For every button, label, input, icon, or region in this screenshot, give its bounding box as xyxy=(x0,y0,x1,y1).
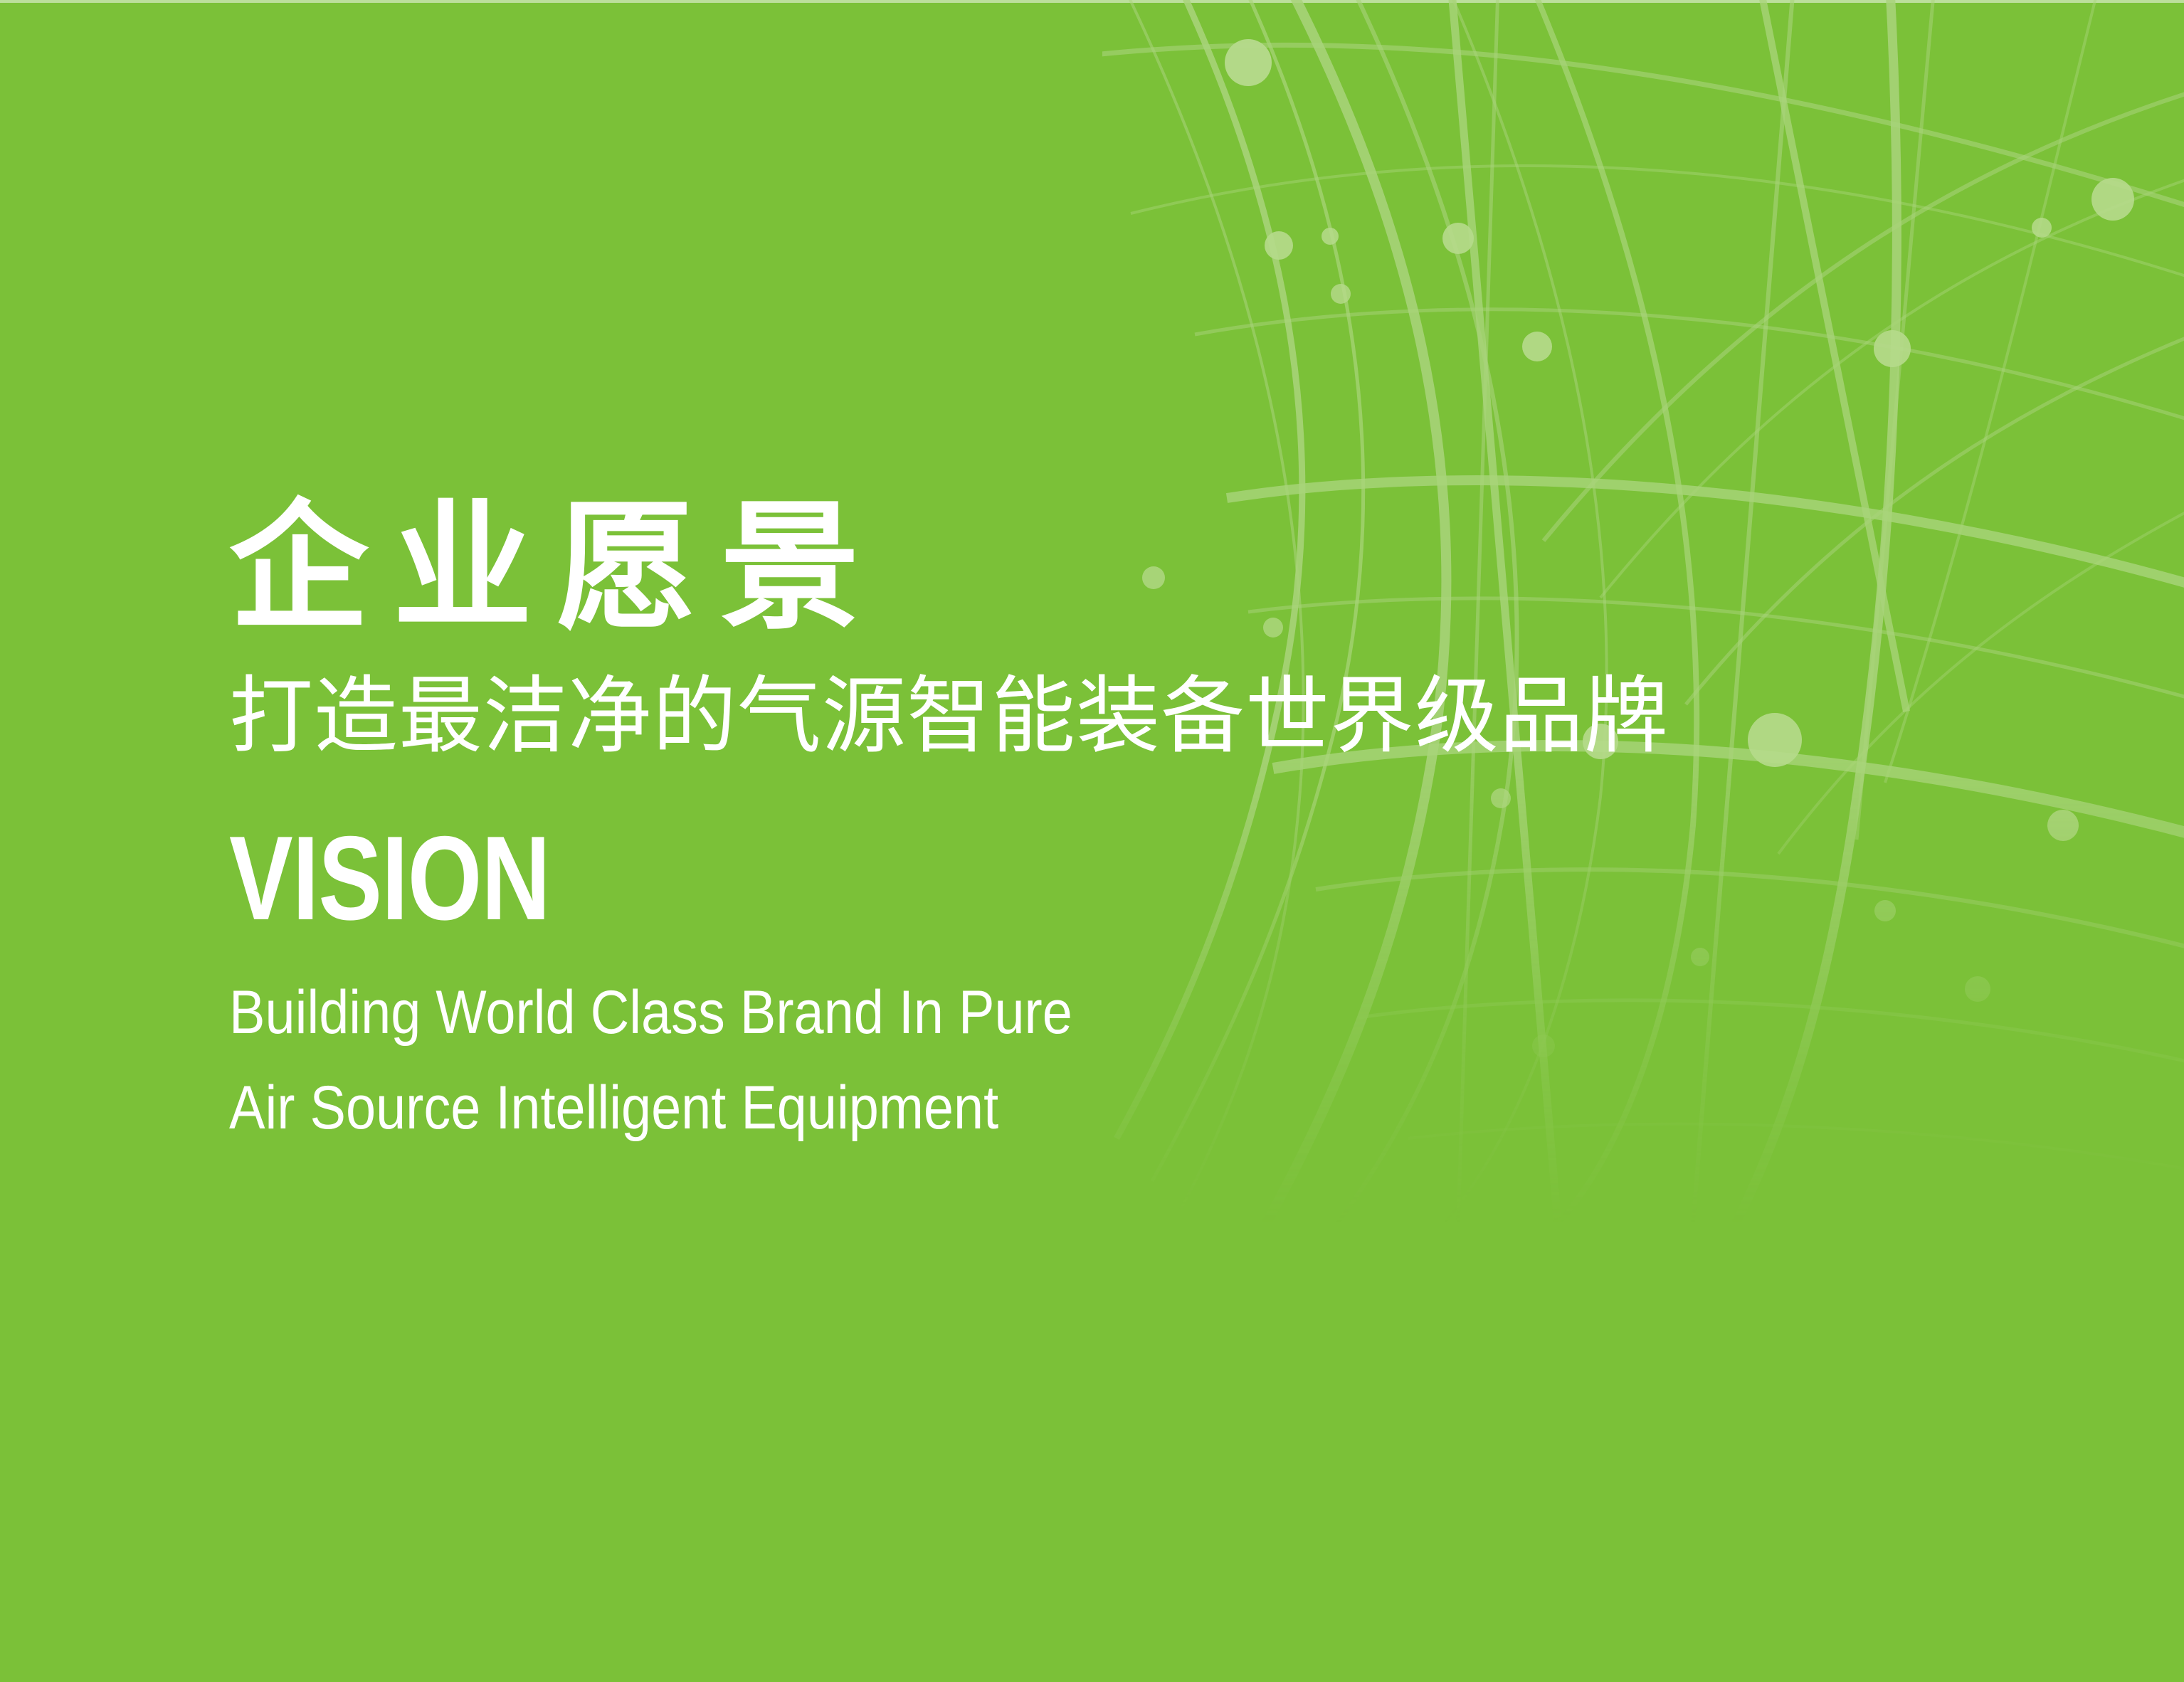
vision-text-block: 企业愿景 打造最洁净的气源智能装备世界级品牌 VISION Building W… xyxy=(229,498,1937,1138)
top-edge-hairline xyxy=(0,0,2184,3)
body-english-line-1: Building World Class Brand In Pure xyxy=(229,982,1732,1043)
body-english-line-2: Air Source Intelligent Equipment xyxy=(229,1077,1732,1138)
subtitle-chinese: 打造最洁净的气源智能装备世界级品牌 xyxy=(229,675,1937,758)
heading-english-vision: VISION xyxy=(229,818,1595,938)
page-title-chinese: 企业愿景 xyxy=(229,498,1937,638)
vision-slide: 企业愿景 打造最洁净的气源智能装备世界级品牌 VISION Building W… xyxy=(0,0,2184,1682)
